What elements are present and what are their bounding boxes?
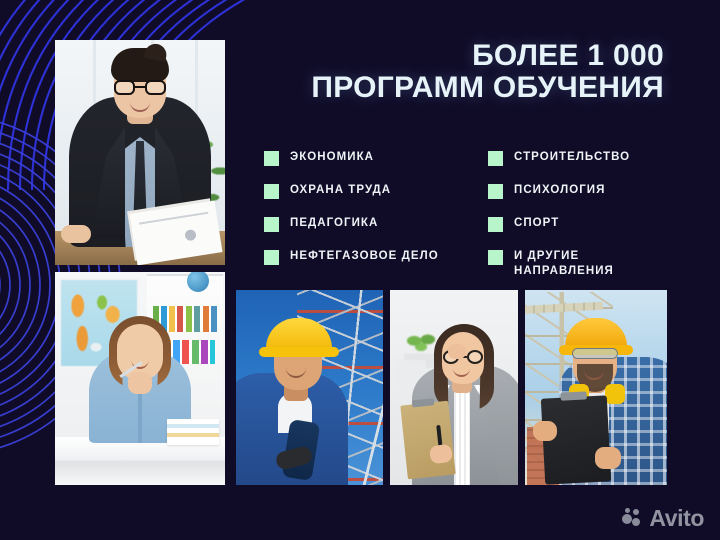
photo-construction-worker xyxy=(525,290,667,485)
category-item-ekonomika[interactable]: ЭКОНОМИКА xyxy=(264,150,460,169)
photo-engineer xyxy=(236,290,383,485)
avito-watermark: Avito xyxy=(622,505,704,532)
category-item-stroitelstvo[interactable]: СТРОИТЕЛЬСТВО xyxy=(488,150,684,169)
category-label: ПЕДАГОГИКА xyxy=(290,216,378,231)
category-label: ЭКОНОМИКА xyxy=(290,150,374,165)
avito-logo-icon xyxy=(622,508,644,530)
category-label: ОХРАНА ТРУДА xyxy=(290,183,391,198)
bullet-square-icon xyxy=(488,250,503,265)
bullet-square-icon xyxy=(264,151,279,166)
bullet-square-icon xyxy=(264,217,279,232)
bullet-square-icon xyxy=(488,151,503,166)
bullet-square-icon xyxy=(264,184,279,199)
photo-businessman xyxy=(55,40,225,265)
category-item-neftegazovoe-delo[interactable]: НЕФТЕГАЗОВОЕ ДЕЛО xyxy=(264,249,460,278)
avito-wordmark: Avito xyxy=(649,505,704,532)
category-label: И ДРУГИЕ НАПРАВЛЕНИЯ xyxy=(514,249,614,278)
category-list: ЭКОНОМИКА СТРОИТЕЛЬСТВО ОХРАНА ТРУДА ПСИ… xyxy=(264,150,684,278)
category-label: СПОРТ xyxy=(514,216,559,231)
bullet-square-icon xyxy=(488,184,503,199)
category-label: НЕФТЕГАЗОВОЕ ДЕЛО xyxy=(290,249,439,264)
category-item-sport[interactable]: СПОРТ xyxy=(488,216,684,235)
page-title: БОЛЕЕ 1 000 ПРОГРАММ ОБУЧЕНИЯ xyxy=(234,40,664,105)
category-item-psihologiya[interactable]: ПСИХОЛОГИЯ xyxy=(488,183,684,202)
photo-teacher xyxy=(55,272,225,485)
category-item-other-directions[interactable]: И ДРУГИЕ НАПРАВЛЕНИЯ xyxy=(488,249,684,278)
category-label: ПСИХОЛОГИЯ xyxy=(514,183,605,198)
category-label: СТРОИТЕЛЬСТВО xyxy=(514,150,630,165)
promo-banner: БОЛЕЕ 1 000 ПРОГРАММ ОБУЧЕНИЯ ЭКОНОМИКА … xyxy=(0,0,720,540)
category-item-ohrana-truda[interactable]: ОХРАНА ТРУДА xyxy=(264,183,460,202)
bullet-square-icon xyxy=(264,250,279,265)
category-item-pedagogika[interactable]: ПЕДАГОГИКА xyxy=(264,216,460,235)
photo-office-woman xyxy=(390,290,518,485)
bullet-square-icon xyxy=(488,217,503,232)
